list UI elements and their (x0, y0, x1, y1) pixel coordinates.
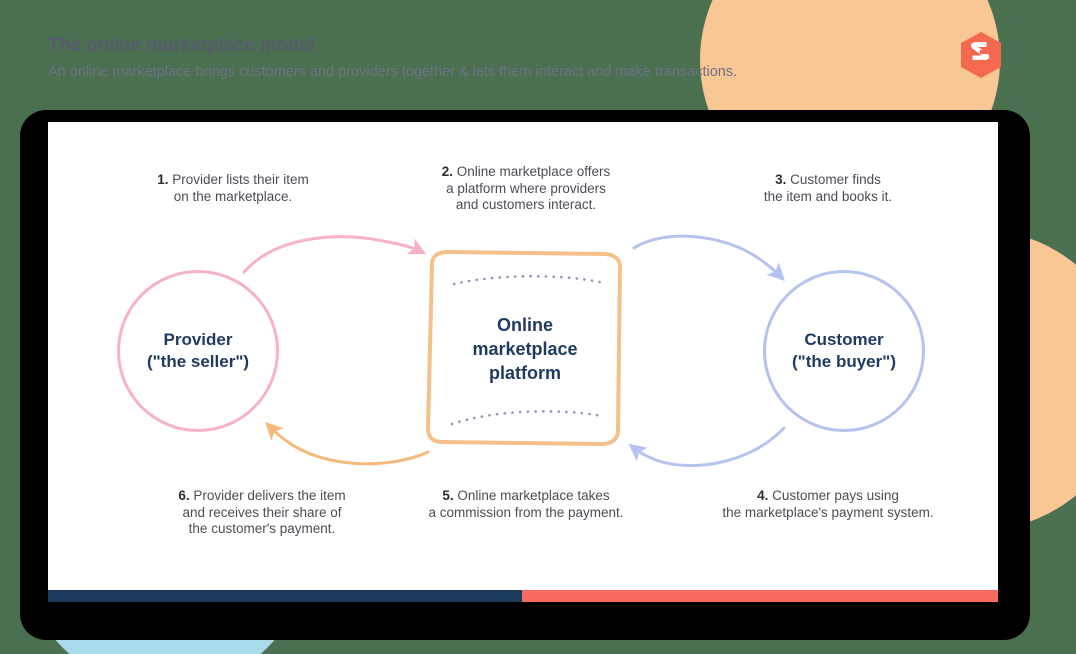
step-6-line1: Provider delivers the item (193, 488, 345, 503)
node-platform-line3: platform (472, 362, 577, 386)
arrow-platform-to-customer (634, 236, 780, 276)
step-6-number: 6. (178, 488, 193, 503)
step-label-4: 4. Customer pays using the marketplace's… (698, 488, 958, 521)
marketplace-flow-diagram: Provider ("the seller") Online marketpla… (48, 122, 998, 602)
step-4-number: 4. (757, 488, 772, 503)
step-3-line1: Customer finds (790, 172, 881, 187)
step-1-line1: Provider lists their item (172, 172, 309, 187)
arrow-customer-to-platform (634, 428, 784, 466)
node-provider-line2: ("the seller") (147, 351, 249, 373)
step-label-5: 5. Online marketplace takes a commission… (406, 488, 646, 521)
step-label-6: 6. Provider delivers the item and receiv… (132, 488, 392, 538)
step-2-line3: and customers interact. (456, 197, 596, 212)
node-platform[interactable]: Online marketplace platform (427, 256, 623, 444)
step-label-2: 2. Online marketplace offers a platform … (416, 164, 636, 214)
device-screen: Provider ("the seller") Online marketpla… (48, 122, 998, 602)
node-customer-line1: Customer (792, 329, 896, 351)
bottom-accent-bar (48, 590, 998, 602)
sharetribe-hexagon-logo-icon (957, 30, 1005, 80)
step-4-line2: the marketplace's payment system. (722, 505, 933, 520)
step-4-line1: Customer pays using (772, 488, 899, 503)
page-title: The online marketplace model (48, 34, 948, 58)
step-3-number: 3. (775, 172, 790, 187)
step-label-1: 1. Provider lists their item on the mark… (108, 172, 358, 205)
bottom-bar-navy-segment (48, 590, 522, 602)
step-6-line2: and receives their share of (182, 505, 341, 520)
node-provider-line1: Provider (147, 329, 249, 351)
node-customer-line2: ("the buyer") (792, 351, 896, 373)
page-subtitle: An online marketplace brings customers a… (48, 61, 948, 83)
step-2-line2: a platform where providers (446, 181, 606, 196)
step-1-number: 1. (157, 172, 172, 187)
arrow-provider-to-platform (244, 237, 420, 272)
node-provider[interactable]: Provider ("the seller") (117, 270, 279, 432)
bottom-bar-coral-segment (522, 590, 998, 602)
step-2-line1: Online marketplace offers (457, 164, 611, 179)
step-1-line2: on the marketplace. (174, 189, 293, 204)
step-5-line1: Online marketplace takes (457, 488, 609, 503)
node-platform-line2: marketplace (472, 338, 577, 362)
step-2-number: 2. (442, 164, 457, 179)
step-5-line2: a commission from the payment. (428, 505, 623, 520)
step-label-3: 3. Customer finds the item and books it. (703, 172, 953, 205)
arrow-platform-to-provider (270, 427, 428, 464)
step-6-line3: the customer's payment. (189, 521, 336, 536)
header: The online marketplace model An online m… (48, 34, 948, 83)
step-3-line2: the item and books it. (764, 189, 892, 204)
step-5-number: 5. (442, 488, 457, 503)
node-platform-line1: Online (472, 314, 577, 338)
node-customer[interactable]: Customer ("the buyer") (763, 270, 925, 432)
